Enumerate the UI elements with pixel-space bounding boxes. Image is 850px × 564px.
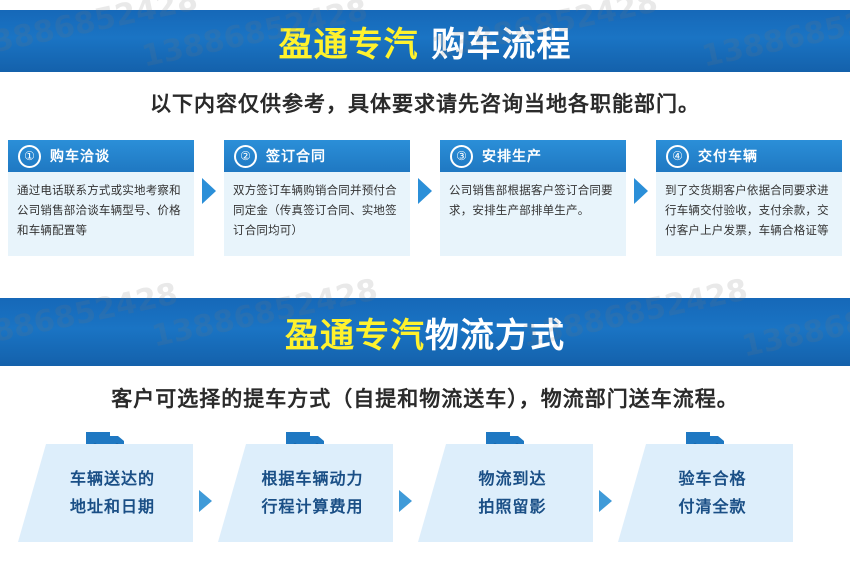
step-card: ③ 安排生产 公司销售部根据客户签订合同要求，安排生产部排单生产。 [440,140,626,256]
step-number-badge: ④ [666,145,689,168]
step-title: 购车洽谈 [50,146,110,166]
logistics-card: 车辆送达的 地址和日期 [18,428,193,542]
logistics-arrow-icon [399,490,412,512]
step-number-badge: ③ [450,145,473,168]
purchase-steps: ① 购车洽谈 通过电话联系方式或实地考察和公司销售部洽谈车辆型号、价格和车辆配置… [8,140,842,260]
logistics-arrow-icon [199,490,212,512]
step-title: 交付车辆 [698,146,758,166]
step-title: 签订合同 [266,146,326,166]
logistics-line-1: 根据车辆动力 [261,465,363,493]
logistics-line-2: 行程计算费用 [261,493,363,521]
logistics-card-body: 根据车辆动力 行程计算费用 [218,444,393,542]
section1-title-rest: 购车流程 [419,25,572,65]
logistics-line-1: 验车合格 [678,465,746,493]
step-card: ② 签订合同 双方签订车辆购销合同并预付合同定金（传真签订合同、实地签订合同均可… [224,140,410,256]
step-body: 通过电话联系方式或实地考察和公司销售部洽谈车辆型号、价格和车辆配置等 [8,172,194,256]
logistics-card: 验车合格 付清全款 [618,428,793,542]
logistics-line-2: 付清全款 [678,493,746,521]
logistics-card: 根据车辆动力 行程计算费用 [218,428,393,542]
logistics-line-1: 车辆送达的 [70,465,155,493]
step-body: 到了交货期客户依据合同要求进行车辆交付验收，支付余款，交付客户上户发票，车辆合格… [656,172,842,256]
step-header: ② 签订合同 [224,140,410,172]
step-body: 双方签订车辆购销合同并预付合同定金（传真签订合同、实地签订合同均可） [224,172,410,256]
step-arrow-icon [202,178,216,204]
step-arrow-icon [634,178,648,204]
logistics-card-body: 物流到达 拍照留影 [418,444,593,542]
logistics-line-2: 地址和日期 [70,493,155,521]
step-card: ① 购车洽谈 通过电话联系方式或实地考察和公司销售部洽谈车辆型号、价格和车辆配置… [8,140,194,256]
section1-title: 盈通专汽 购车流程 [279,17,572,66]
logistics-card-body: 车辆送达的 地址和日期 [18,444,193,542]
step-title: 安排生产 [482,146,542,166]
section2-title-brand: 盈通专汽 [285,316,425,356]
section1-banner: 盈通专汽 购车流程 [0,10,850,72]
logistics-card-body: 验车合格 付清全款 [618,444,793,542]
step-number-badge: ① [18,145,41,168]
logistics-steps: 车辆送达的 地址和日期 根据车辆动力 行程计算费用 物流到达 拍照留影 [18,428,833,550]
step-number-badge: ② [234,145,257,168]
section2-title: 盈通专汽物流方式 [285,308,565,357]
step-body: 公司销售部根据客户签订合同要求，安排生产部排单生产。 [440,172,626,256]
logistics-line-1: 物流到达 [478,465,546,493]
logistics-card: 物流到达 拍照留影 [418,428,593,542]
section2-title-rest: 物流方式 [425,316,565,356]
section1-title-brand: 盈通专汽 [279,25,419,65]
section2-subtitle: 客户可选择的提车方式（自提和物流送车），物流部门送车流程。 [0,383,850,413]
section1-subtitle: 以下内容仅供参考，具体要求请先咨询当地各职能部门。 [0,88,850,118]
logistics-line-2: 拍照留影 [478,493,546,521]
step-header: ④ 交付车辆 [656,140,842,172]
logistics-arrow-icon [599,490,612,512]
step-header: ① 购车洽谈 [8,140,194,172]
section2-banner: 盈通专汽物流方式 [0,298,850,366]
step-header: ③ 安排生产 [440,140,626,172]
step-arrow-icon [418,178,432,204]
step-card: ④ 交付车辆 到了交货期客户依据合同要求进行车辆交付验收，支付余款，交付客户上户… [656,140,842,256]
